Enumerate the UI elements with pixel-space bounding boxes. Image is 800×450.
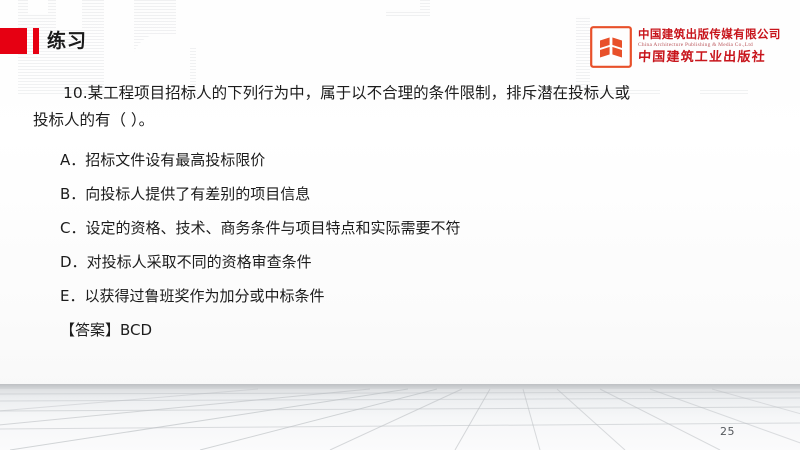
map-mask-7	[380, 0, 420, 10]
map-mask-14	[660, 84, 700, 120]
map-mask-5	[176, 0, 204, 46]
map-mask-8	[376, 16, 440, 120]
publisher-logo: 中国建筑出版传媒有限公司 China Architecture Publishi…	[590, 24, 795, 70]
map-mask-2	[56, 0, 82, 30]
map-mask-10	[498, 0, 532, 22]
option-b-text: 向投标人提供了有差别的项目信息	[85, 185, 310, 203]
publisher-company-cn: 中国建筑出版传媒有限公司	[638, 28, 781, 41]
answer-line: 【答案】BCD	[60, 321, 152, 340]
option-b-label: B．	[60, 185, 85, 203]
header-accent-bar	[33, 28, 39, 54]
slide-canvas: 练习 中国建筑出版传媒有限公司 China Architecture Publi…	[0, 0, 800, 450]
option-a-text: 招标文件设有最高投标限价	[85, 151, 265, 169]
option-e: E．以获得过鲁班奖作为加分或中标条件	[60, 287, 325, 306]
option-b: B．向投标人提供了有差别的项目信息	[60, 185, 310, 204]
page-number: 25	[720, 425, 735, 438]
publisher-company-en: China Architecture Publishing & Media Co…	[638, 42, 781, 49]
map-mask-15	[748, 70, 800, 120]
publisher-logo-text: 中国建筑出版传媒有限公司 China Architecture Publishi…	[638, 28, 781, 66]
question-line-2: 投标人的有（ ）。	[33, 111, 154, 130]
option-d-text: 对投标人采取不同的资格审查条件	[87, 253, 312, 271]
question-line-1: 10.某工程项目招标人的下列行为中，属于以不合理的条件限制，排斥潜在投标人或	[63, 84, 630, 103]
option-d-label: D．	[60, 253, 87, 271]
map-mask-1	[0, 0, 18, 120]
option-a: A．招标文件设有最高投标限价	[60, 151, 265, 170]
option-e-label: E．	[60, 287, 84, 305]
option-d: D．对投标人采取不同的资格审查条件	[60, 253, 312, 272]
open-book-emblem-icon	[590, 26, 632, 68]
header-accent-block	[0, 28, 27, 54]
page-title: 练习	[47, 29, 87, 53]
map-mask-12	[566, 0, 610, 16]
option-c-label: C．	[60, 219, 85, 237]
option-e-text: 以获得过鲁班奖作为加分或中标条件	[84, 287, 324, 305]
publisher-imprint-cn: 中国建筑工业出版社	[638, 50, 782, 66]
floor-grid-lines	[0, 384, 800, 450]
perspective-floor	[0, 384, 800, 450]
map-mask-17	[28, 0, 48, 14]
option-a-label: A．	[60, 151, 85, 169]
option-c: C．设定的资格、技术、商务条件与项目特点和实际需要不符	[60, 219, 461, 238]
option-c-text: 设定的资格、技术、商务条件与项目特点和实际需要不符	[85, 219, 460, 237]
map-mask-4	[128, 34, 190, 120]
